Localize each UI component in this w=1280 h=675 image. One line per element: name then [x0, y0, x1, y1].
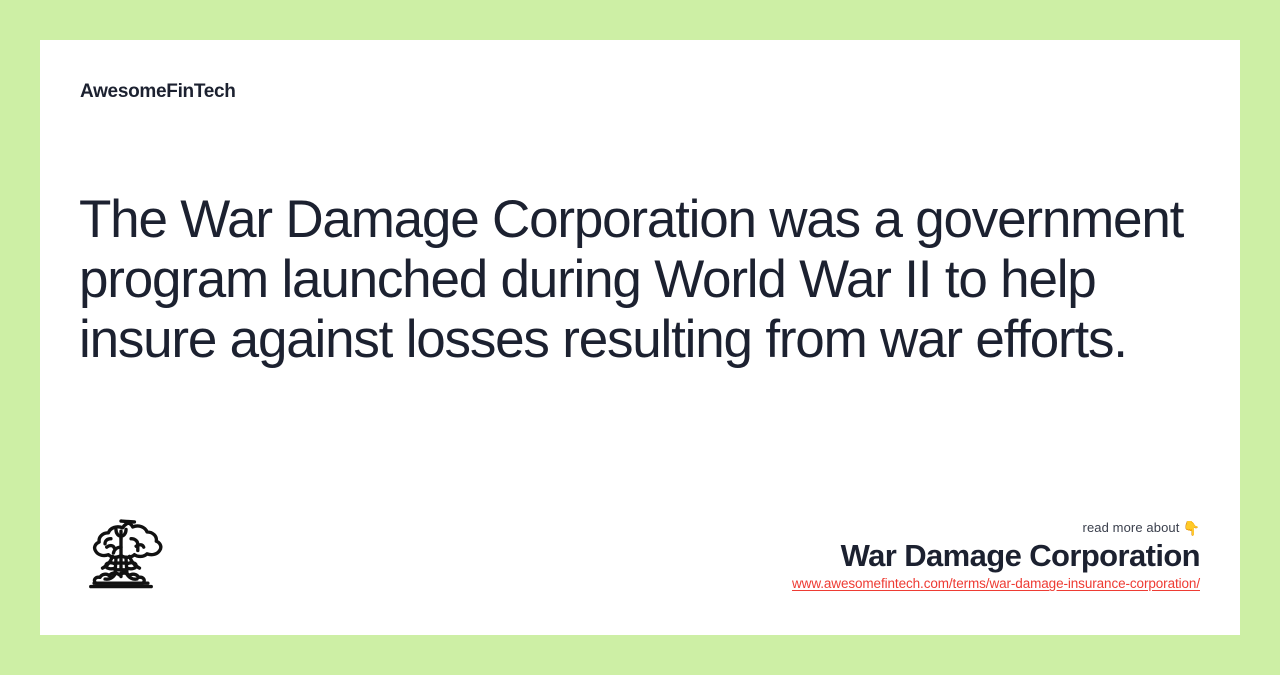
cta-block: read more about👇 War Damage Corporation … [792, 520, 1200, 593]
mushroom-cloud-icon [79, 511, 163, 595]
cta-kicker: read more about👇 [792, 520, 1200, 536]
cta-title: War Damage Corporation [792, 537, 1200, 575]
content-card: AwesomeFinTech The War Damage Corporatio… [40, 40, 1240, 635]
brand-logo-text: AwesomeFinTech [80, 82, 236, 101]
page-background: AwesomeFinTech The War Damage Corporatio… [0, 0, 1280, 675]
page-title: The War Damage Corporation was a governm… [79, 190, 1199, 370]
cta-kicker-label: read more about [1083, 520, 1180, 535]
point-down-icon: 👇 [1182, 520, 1200, 536]
cta-url-link[interactable]: www.awesomefintech.com/terms/war-damage-… [792, 575, 1200, 592]
card-footer: read more about👇 War Damage Corporation … [40, 505, 1240, 635]
